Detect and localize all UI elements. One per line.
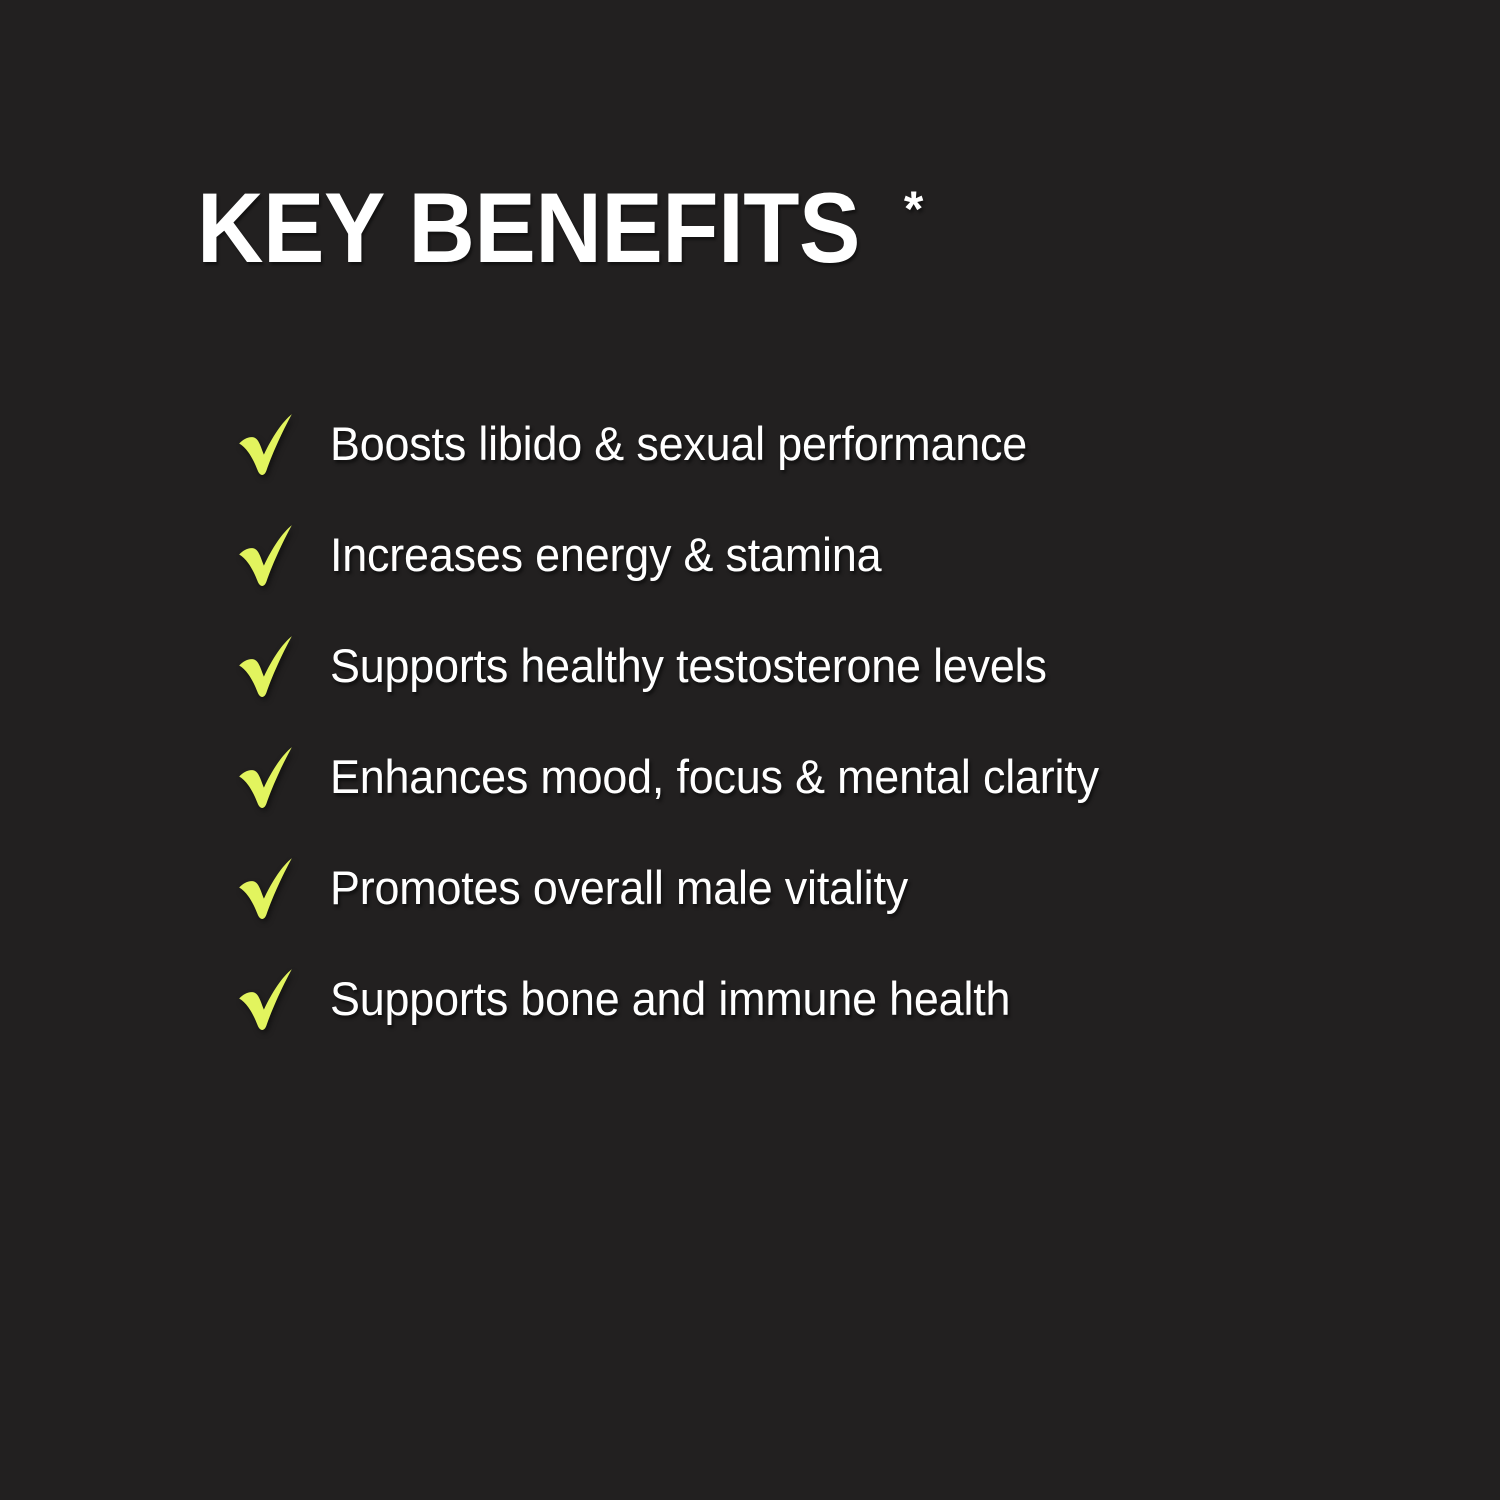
benefit-label: Boosts libido & sexual performance xyxy=(330,420,1291,467)
checkmark-icon xyxy=(236,965,294,1035)
list-item: Supports healthy testosterone levels xyxy=(236,630,1336,741)
benefit-label: Promotes overall male vitality xyxy=(330,864,1291,911)
benefit-label: Enhances mood, focus & mental clarity xyxy=(330,753,1291,800)
benefit-label: Supports bone and immune health xyxy=(330,975,1291,1022)
checkmark-icon xyxy=(236,743,294,813)
benefit-label: Supports healthy testosterone levels xyxy=(330,642,1291,689)
footnote-asterisk: * xyxy=(904,184,923,234)
page-title-text: KEY BENEFITS xyxy=(197,178,860,277)
benefits-list: Boosts libido & sexual performance Incre… xyxy=(236,408,1336,1074)
page-title: KEY BENEFITS * xyxy=(197,178,923,277)
benefit-label: Increases energy & stamina xyxy=(330,531,1291,578)
list-item: Increases energy & stamina xyxy=(236,519,1336,630)
checkmark-icon xyxy=(236,410,294,480)
checkmark-icon xyxy=(236,854,294,924)
checkmark-icon xyxy=(236,521,294,591)
list-item: Promotes overall male vitality xyxy=(236,852,1336,963)
checkmark-icon xyxy=(236,632,294,702)
list-item: Enhances mood, focus & mental clarity xyxy=(236,741,1336,852)
list-item: Boosts libido & sexual performance xyxy=(236,408,1336,519)
benefits-panel: KEY BENEFITS * Boosts libido & sexual pe… xyxy=(0,0,1500,1500)
list-item: Supports bone and immune health xyxy=(236,963,1336,1074)
